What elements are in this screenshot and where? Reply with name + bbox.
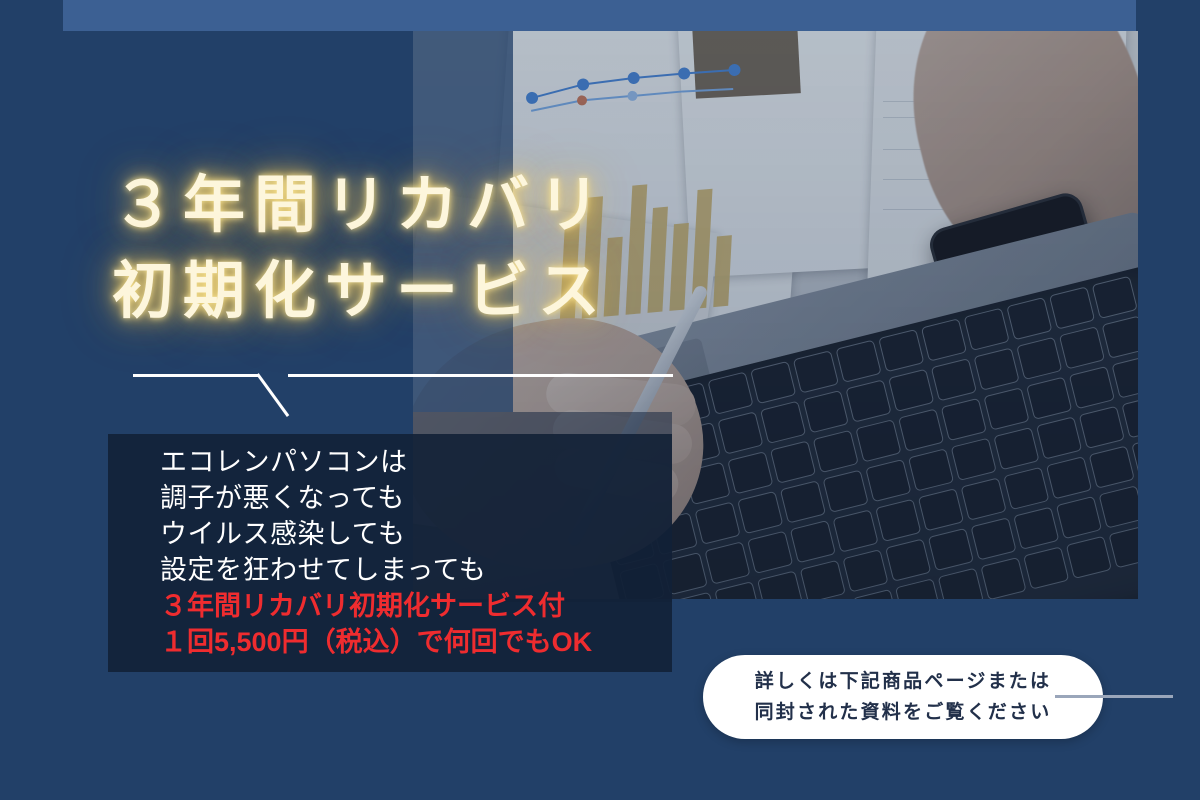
body-line-2: 調子が悪くなっても xyxy=(160,480,680,516)
body-line-5-highlight: ３年間リカバリ初期化サービス付 xyxy=(160,588,680,624)
top-accent-bar xyxy=(63,0,1136,31)
callout-pill: 詳しくは下記商品ページまたは 同封された資料をご覧ください xyxy=(703,655,1103,739)
callout-text: 詳しくは下記商品ページまたは 同封された資料をご覧ください xyxy=(755,666,1052,728)
body-copy-box: エコレンパソコンは 調子が悪くなっても ウイルス感染しても 設定を狂わせてしまっ… xyxy=(108,434,672,672)
body-line-6-price: １回5,500円（税込）で何回でもOK xyxy=(160,624,680,660)
divider-rule-right xyxy=(288,374,673,377)
body-line-3: ウイルス感染しても xyxy=(160,516,680,552)
body-line-1: エコレンパソコンは xyxy=(160,444,680,480)
panel-photo-overlap-upper xyxy=(413,31,513,412)
promo-banner: ３年間リカバリ 初期化サービス エコレンパソコンは 調子が悪くなっても ウイルス… xyxy=(0,0,1200,800)
divider-rule-left xyxy=(133,374,259,377)
left-navy-panel xyxy=(0,0,413,800)
callout-leader-line xyxy=(1055,695,1173,698)
body-copy-lines: エコレンパソコンは 調子が悪くなっても ウイルス感染しても 設定を狂わせてしまっ… xyxy=(160,444,680,660)
body-line-4: 設定を狂わせてしまっても xyxy=(160,552,680,588)
